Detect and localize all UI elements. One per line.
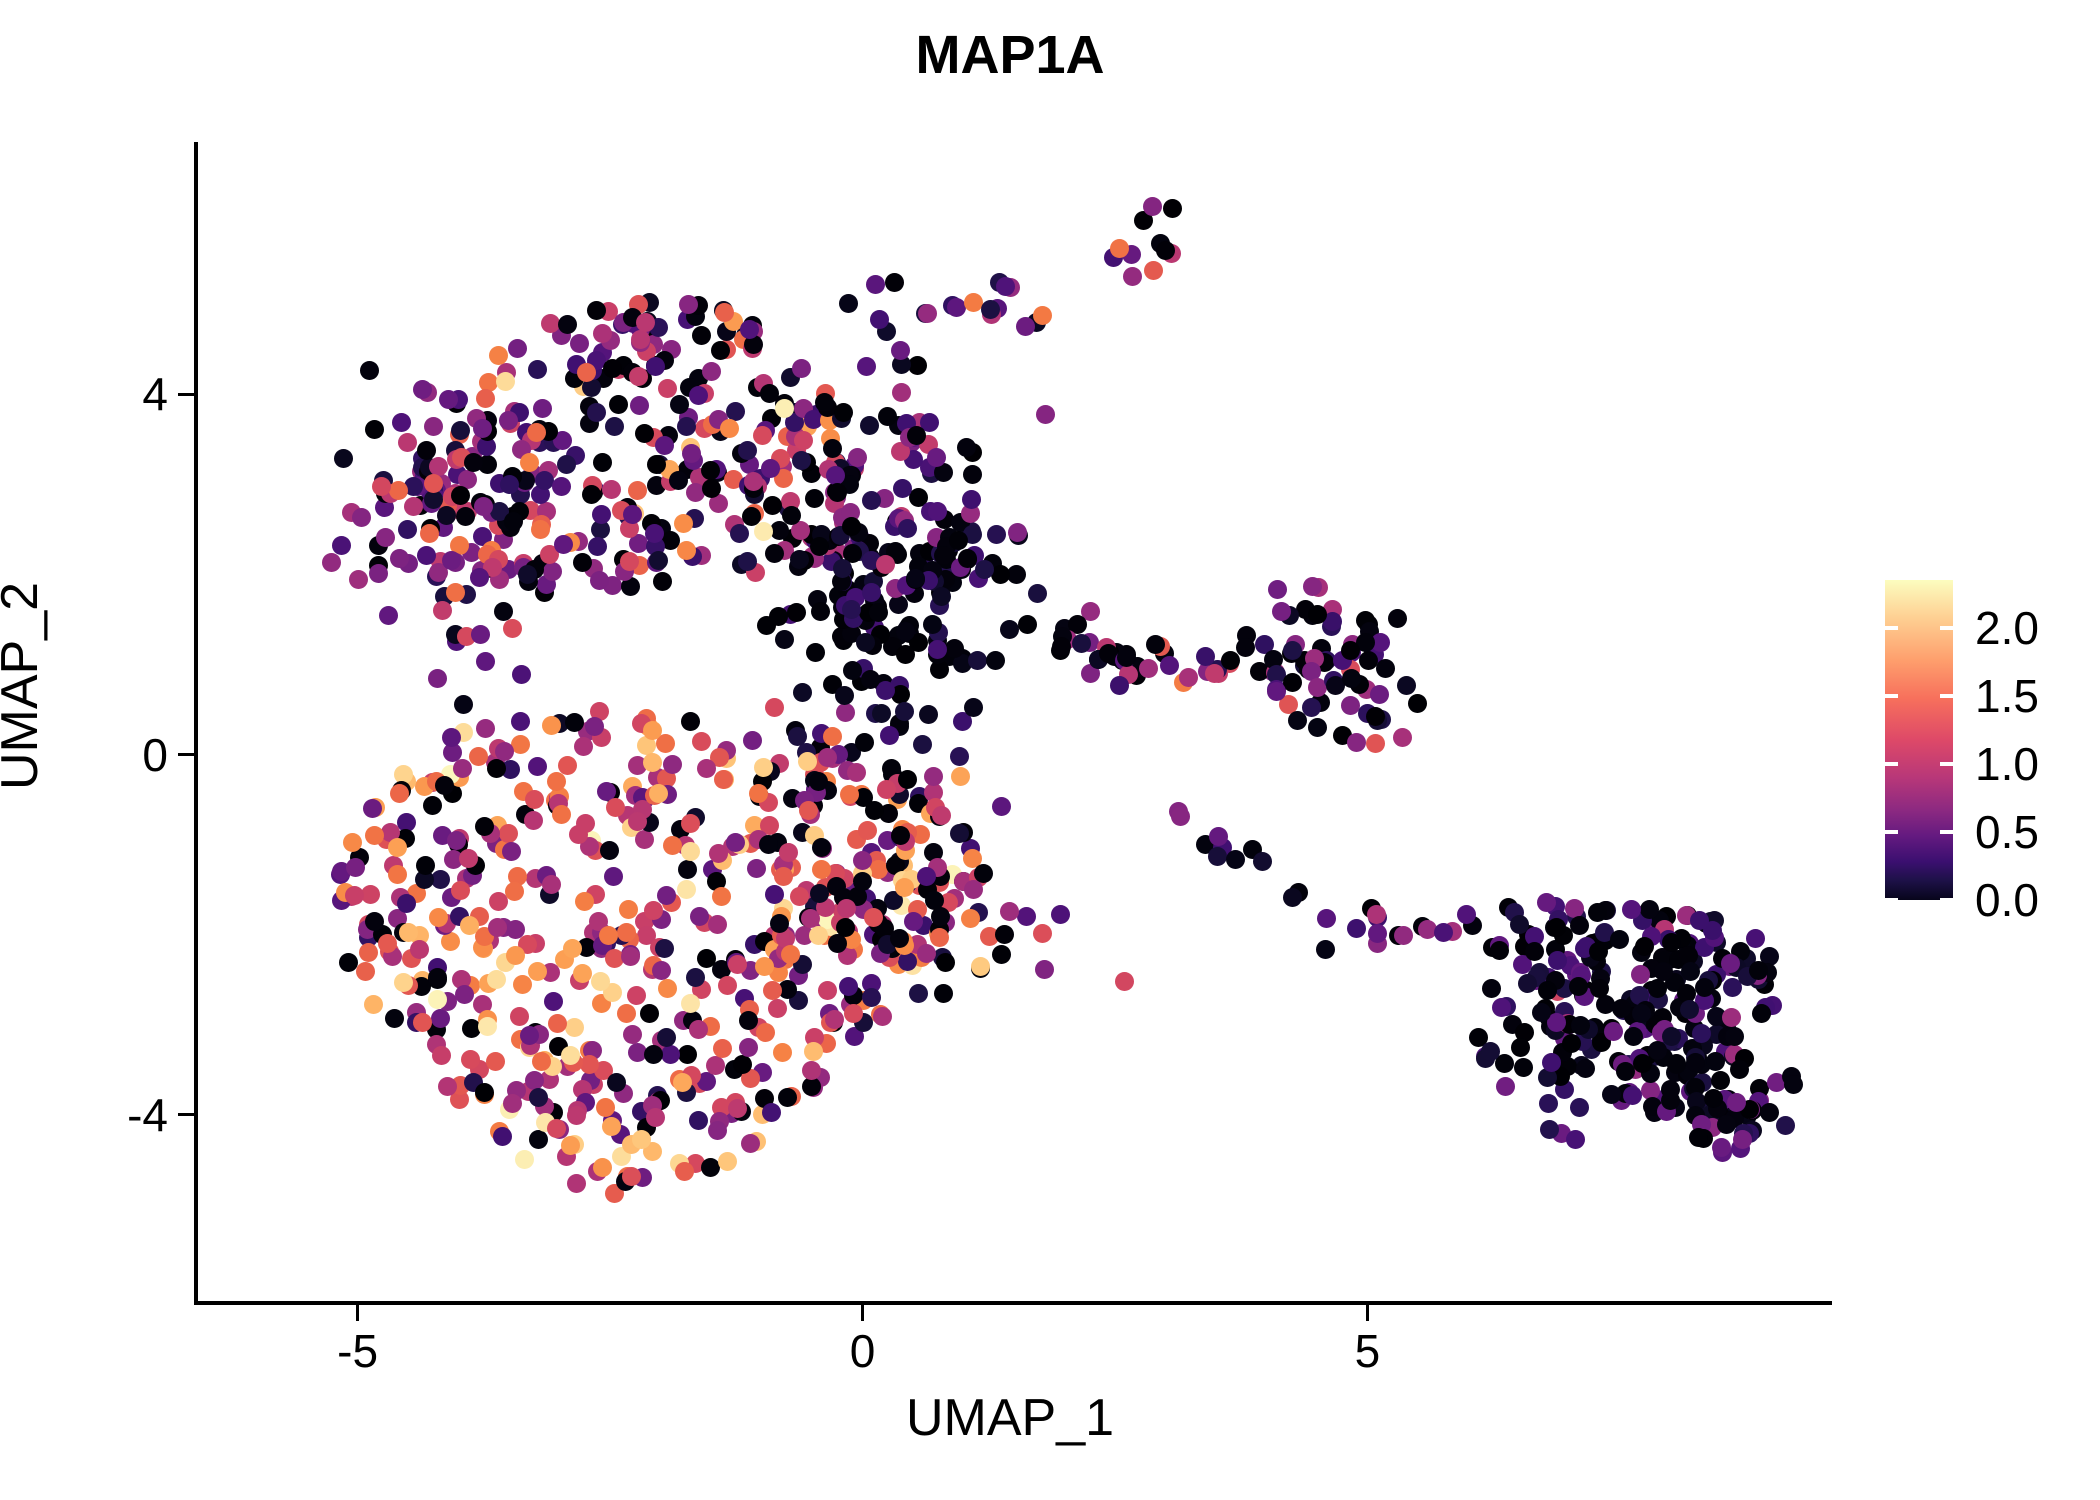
scatter-point xyxy=(812,724,831,743)
scatter-point xyxy=(1616,1062,1635,1081)
scatter-point xyxy=(926,798,945,817)
scatter-point xyxy=(633,788,652,807)
scatter-point xyxy=(1360,622,1379,641)
scatter-point xyxy=(376,528,395,547)
scatter-point xyxy=(912,948,931,967)
scatter-point xyxy=(423,796,442,815)
scatter-point xyxy=(844,940,863,959)
scatter-point xyxy=(1624,1027,1643,1046)
scatter-point xyxy=(852,672,871,691)
scatter-point xyxy=(842,624,861,643)
scatter-point xyxy=(463,866,482,885)
scatter-point xyxy=(605,417,624,436)
scatter-point xyxy=(586,841,605,860)
scatter-point xyxy=(1745,966,1764,985)
x-tick-mark xyxy=(861,1305,864,1321)
scatter-point xyxy=(342,887,361,906)
scatter-point xyxy=(1654,1048,1673,1067)
scatter-point xyxy=(689,369,708,388)
scatter-point xyxy=(854,575,873,594)
scatter-point xyxy=(1570,1098,1589,1117)
scatter-point xyxy=(548,1014,567,1033)
scatter-point xyxy=(1283,641,1302,660)
scatter-point xyxy=(684,451,703,470)
scatter-point xyxy=(612,1147,631,1166)
scatter-point xyxy=(1317,909,1336,928)
scatter-point xyxy=(543,1057,562,1076)
scatter-point xyxy=(945,639,964,658)
scatter-point xyxy=(726,950,745,969)
scatter-point xyxy=(845,883,864,902)
scatter-point xyxy=(524,811,543,830)
scatter-point xyxy=(712,960,731,979)
scatter-point xyxy=(427,567,446,586)
scatter-point xyxy=(872,704,891,723)
scatter-point xyxy=(1552,1124,1571,1143)
scatter-point xyxy=(496,372,515,391)
scatter-point xyxy=(753,426,772,445)
scatter-point xyxy=(420,524,439,543)
scatter-point xyxy=(835,564,854,583)
scatter-point xyxy=(506,920,525,939)
scatter-point xyxy=(707,872,726,891)
scatter-point xyxy=(627,986,646,1005)
scatter-point xyxy=(540,1070,559,1089)
scatter-point xyxy=(1756,998,1775,1017)
scatter-point xyxy=(934,463,953,482)
scatter-point xyxy=(750,787,769,806)
scatter-point xyxy=(910,413,929,432)
scatter-point xyxy=(799,908,818,927)
scatter-point xyxy=(486,753,505,772)
scatter-point xyxy=(925,572,944,591)
colorbar-tick-mark xyxy=(1885,626,1898,630)
scatter-point xyxy=(546,791,565,810)
scatter-point xyxy=(1571,963,1590,982)
scatter-point xyxy=(840,466,859,485)
scatter-point xyxy=(620,930,639,949)
scatter-point xyxy=(623,308,642,327)
scatter-point xyxy=(352,508,371,527)
scatter-point xyxy=(1678,936,1697,955)
scatter-point xyxy=(829,527,848,546)
scatter-point xyxy=(906,570,925,589)
scatter-point xyxy=(589,912,608,931)
scatter-point xyxy=(923,561,942,580)
scatter-point xyxy=(963,465,982,484)
scatter-point xyxy=(1503,1015,1522,1034)
scatter-point xyxy=(1081,602,1100,621)
scatter-point xyxy=(856,633,875,652)
scatter-point xyxy=(686,968,705,987)
scatter-point xyxy=(331,865,350,884)
scatter-point xyxy=(623,1025,642,1044)
scatter-point xyxy=(649,1092,668,1111)
scatter-point xyxy=(580,397,599,416)
scatter-point xyxy=(592,994,611,1013)
scatter-point xyxy=(871,625,890,644)
scatter-point xyxy=(398,520,417,539)
scatter-point xyxy=(897,948,916,967)
scatter-point xyxy=(961,504,980,523)
scatter-point xyxy=(1525,927,1544,946)
scatter-point xyxy=(603,983,622,1002)
scatter-point xyxy=(373,925,392,944)
scatter-point xyxy=(898,823,917,842)
scatter-point xyxy=(1267,682,1286,701)
scatter-point xyxy=(1749,1092,1768,1111)
scatter-point xyxy=(1099,644,1118,663)
scatter-point xyxy=(366,798,385,817)
scatter-point xyxy=(964,880,983,899)
scatter-point xyxy=(369,536,388,555)
scatter-point xyxy=(526,869,545,888)
scatter-point xyxy=(1068,615,1087,634)
scatter-point xyxy=(827,482,846,501)
scatter-point xyxy=(1707,965,1726,984)
scatter-point xyxy=(508,339,527,358)
scatter-point xyxy=(776,950,795,969)
scatter-point xyxy=(450,829,469,848)
scatter-point xyxy=(748,378,767,397)
scatter-point xyxy=(690,907,709,926)
scatter-point xyxy=(690,1074,709,1093)
scatter-point xyxy=(1341,696,1360,715)
scatter-point xyxy=(1253,852,1272,871)
scatter-point xyxy=(449,835,468,854)
scatter-point xyxy=(1496,1077,1515,1096)
scatter-point xyxy=(757,616,776,635)
scatter-point xyxy=(775,630,794,649)
scatter-point xyxy=(804,796,823,815)
scatter-point xyxy=(930,596,949,615)
scatter-point xyxy=(852,785,871,804)
scatter-point xyxy=(889,955,908,974)
scatter-point xyxy=(798,417,817,436)
scatter-point xyxy=(505,882,524,901)
scatter-point xyxy=(476,389,495,408)
scatter-point xyxy=(853,851,872,870)
scatter-point xyxy=(417,441,436,460)
scatter-point xyxy=(1666,1098,1685,1117)
scatter-point xyxy=(582,485,601,504)
scatter-point xyxy=(377,830,396,849)
scatter-point xyxy=(861,548,880,567)
scatter-point xyxy=(446,553,465,572)
scatter-point xyxy=(834,403,853,422)
scatter-point xyxy=(971,957,990,976)
scatter-point xyxy=(415,870,434,889)
scatter-point xyxy=(783,789,802,808)
colorbar-tick-label: 2.0 xyxy=(1975,605,2039,651)
scatter-point xyxy=(1649,990,1668,1009)
scatter-point xyxy=(904,450,923,469)
scatter-point xyxy=(648,768,667,787)
scatter-point xyxy=(1635,998,1654,1017)
scatter-point xyxy=(584,923,603,942)
scatter-point xyxy=(801,805,820,824)
scatter-point xyxy=(1641,1081,1660,1100)
scatter-point xyxy=(908,900,927,919)
scatter-point xyxy=(1648,979,1667,998)
scatter-point xyxy=(1567,965,1586,984)
scatter-point xyxy=(768,833,787,852)
scatter-point xyxy=(473,995,492,1014)
scatter-point xyxy=(927,448,946,467)
scatter-point xyxy=(1110,676,1129,695)
scatter-point xyxy=(1539,968,1558,987)
scatter-point xyxy=(404,477,423,496)
scatter-point xyxy=(1602,1019,1621,1038)
scatter-point xyxy=(885,934,904,953)
scatter-point xyxy=(868,597,887,616)
scatter-point xyxy=(718,976,737,995)
scatter-point xyxy=(550,1120,569,1139)
scatter-point xyxy=(718,1152,737,1171)
scatter-point xyxy=(958,549,977,568)
scatter-point xyxy=(568,1101,587,1120)
scatter-point xyxy=(447,450,466,469)
scatter-point xyxy=(1625,995,1644,1014)
scatter-point xyxy=(681,842,700,861)
scatter-point xyxy=(980,927,999,946)
scatter-point xyxy=(1370,685,1389,704)
scatter-point xyxy=(703,415,722,434)
scatter-point xyxy=(441,932,460,951)
scatter-point xyxy=(934,546,953,565)
scatter-point xyxy=(609,360,628,379)
scatter-point xyxy=(931,583,950,602)
scatter-point xyxy=(805,1028,824,1047)
scatter-point xyxy=(528,360,547,379)
scatter-point xyxy=(816,878,835,897)
scatter-point xyxy=(1612,999,1631,1018)
scatter-point xyxy=(459,849,478,868)
scatter-point xyxy=(1553,1043,1572,1062)
scatter-point xyxy=(820,1004,839,1023)
scatter-point xyxy=(1722,1008,1741,1027)
scatter-point xyxy=(1000,902,1019,921)
scatter-point xyxy=(933,948,952,967)
scatter-point xyxy=(1364,643,1383,662)
scatter-point xyxy=(628,1043,647,1062)
scatter-point xyxy=(713,851,732,870)
scatter-point xyxy=(442,888,461,907)
scatter-point xyxy=(871,1005,890,1024)
scatter-point xyxy=(756,421,775,440)
scatter-point xyxy=(441,765,460,784)
scatter-point xyxy=(686,1154,705,1173)
scatter-point xyxy=(528,962,547,981)
scatter-point xyxy=(790,887,809,906)
scatter-point xyxy=(835,869,854,888)
scatter-point xyxy=(1579,1020,1598,1039)
scatter-point xyxy=(394,923,413,942)
scatter-point xyxy=(594,1061,613,1080)
scatter-point xyxy=(613,315,632,334)
scatter-point xyxy=(607,1073,626,1092)
scatter-point xyxy=(365,912,384,931)
scatter-point xyxy=(452,970,471,989)
scatter-point xyxy=(385,1009,404,1028)
scatter-point xyxy=(902,433,921,452)
scatter-point xyxy=(1703,1118,1722,1137)
scatter-point xyxy=(920,458,939,477)
scatter-point xyxy=(695,419,714,438)
scatter-point xyxy=(478,1010,497,1029)
scatter-point xyxy=(1089,650,1108,669)
scatter-point xyxy=(1302,698,1321,717)
scatter-point xyxy=(565,369,584,388)
scatter-point xyxy=(974,864,993,883)
scatter-point xyxy=(818,981,837,1000)
scatter-point xyxy=(448,465,467,484)
scatter-point xyxy=(1684,952,1703,971)
scatter-point xyxy=(612,501,631,520)
scatter-point xyxy=(817,1034,836,1053)
scatter-point xyxy=(905,584,924,603)
scatter-point xyxy=(1366,707,1385,726)
scatter-point xyxy=(707,460,726,479)
scatter-point xyxy=(1007,565,1026,584)
scatter-point xyxy=(342,503,361,522)
scatter-point xyxy=(1721,954,1740,973)
scatter-point xyxy=(381,484,400,503)
scatter-point xyxy=(804,410,823,429)
scatter-point xyxy=(795,926,814,945)
scatter-point xyxy=(844,539,863,558)
scatter-point xyxy=(1740,1124,1759,1143)
scatter-point xyxy=(1655,1020,1674,1039)
scatter-point xyxy=(1303,577,1322,596)
scatter-point xyxy=(404,497,423,516)
scatter-point xyxy=(431,1009,450,1028)
scatter-point xyxy=(1312,639,1331,658)
scatter-point xyxy=(632,714,651,733)
scatter-point xyxy=(638,312,657,331)
scatter-point xyxy=(682,444,701,463)
scatter-point xyxy=(888,774,907,793)
scatter-point xyxy=(1541,1017,1560,1036)
scatter-point xyxy=(711,341,730,360)
scatter-point xyxy=(365,420,384,439)
scatter-point xyxy=(811,753,830,772)
scatter-point xyxy=(407,884,426,903)
scatter-point xyxy=(869,914,888,933)
scatter-point xyxy=(599,926,618,945)
scatter-point xyxy=(1350,675,1369,694)
scatter-point xyxy=(1530,963,1549,982)
scatter-point xyxy=(891,826,910,845)
scatter-point xyxy=(860,416,879,435)
scatter-point xyxy=(504,512,523,531)
plot-panel xyxy=(196,142,1832,1304)
scatter-point xyxy=(424,490,443,509)
scatter-point xyxy=(930,660,949,679)
scatter-point xyxy=(570,971,589,990)
scatter-point xyxy=(1570,916,1589,935)
scatter-point xyxy=(774,469,793,488)
scatter-point xyxy=(932,587,951,606)
scatter-point xyxy=(943,296,962,315)
scatter-point xyxy=(840,928,859,947)
scatter-point xyxy=(552,805,571,824)
scatter-point xyxy=(479,974,498,993)
scatter-point xyxy=(1561,956,1580,975)
scatter-point xyxy=(706,1056,725,1075)
scatter-point xyxy=(391,888,410,907)
scatter-point xyxy=(1662,1027,1681,1046)
scatter-point xyxy=(1366,734,1385,753)
scatter-point xyxy=(775,860,794,879)
scatter-point xyxy=(563,939,582,958)
scatter-point xyxy=(857,357,876,376)
scatter-point xyxy=(1711,1071,1730,1090)
scatter-point xyxy=(805,549,824,568)
scatter-point xyxy=(781,945,800,964)
umap-feature-plot: MAP1A 40-4 -505 UMAP_1 UMAP_2 2.01.51.00… xyxy=(0,0,2100,1500)
scatter-point xyxy=(1008,523,1027,542)
scatter-point xyxy=(839,294,858,313)
scatter-point xyxy=(683,1011,702,1030)
scatter-point xyxy=(1660,1032,1679,1051)
scatter-point xyxy=(544,992,563,1011)
scatter-point xyxy=(1288,711,1307,730)
scatter-point xyxy=(717,340,736,359)
scatter-point xyxy=(552,477,571,496)
scatter-point xyxy=(1654,951,1673,970)
scatter-point xyxy=(823,675,842,694)
scatter-point xyxy=(471,625,490,644)
scatter-point xyxy=(924,783,943,802)
scatter-point xyxy=(911,825,930,844)
colorbar-tick-mark xyxy=(1940,762,1953,766)
scatter-point xyxy=(743,339,762,358)
scatter-point xyxy=(444,850,463,869)
scatter-point xyxy=(1323,600,1342,619)
scatter-point xyxy=(346,858,365,877)
scatter-point xyxy=(1659,930,1678,949)
scatter-point xyxy=(822,552,841,571)
scatter-point xyxy=(1724,1047,1743,1066)
scatter-point xyxy=(427,772,446,791)
scatter-point xyxy=(928,502,947,521)
scatter-point xyxy=(537,866,556,885)
scatter-point xyxy=(1712,1101,1731,1120)
scatter-point xyxy=(601,783,620,802)
scatter-point xyxy=(489,550,508,569)
scatter-point xyxy=(479,373,498,392)
scatter-point xyxy=(820,411,839,430)
scatter-point xyxy=(753,1105,772,1124)
scatter-point xyxy=(854,659,873,678)
scatter-point xyxy=(1684,1079,1703,1098)
scatter-point xyxy=(805,897,824,916)
scatter-point xyxy=(619,507,638,526)
scatter-point xyxy=(1743,1121,1762,1140)
scatter-point xyxy=(826,466,845,485)
scatter-point xyxy=(661,472,680,491)
scatter-point xyxy=(677,1083,696,1102)
scatter-point xyxy=(897,414,916,433)
scatter-point xyxy=(1546,897,1565,916)
scatter-point xyxy=(929,623,948,642)
scatter-point xyxy=(797,881,816,900)
scatter-point xyxy=(778,980,797,999)
scatter-point xyxy=(689,1020,708,1039)
scatter-point xyxy=(838,928,857,947)
scatter-point xyxy=(561,1136,580,1155)
